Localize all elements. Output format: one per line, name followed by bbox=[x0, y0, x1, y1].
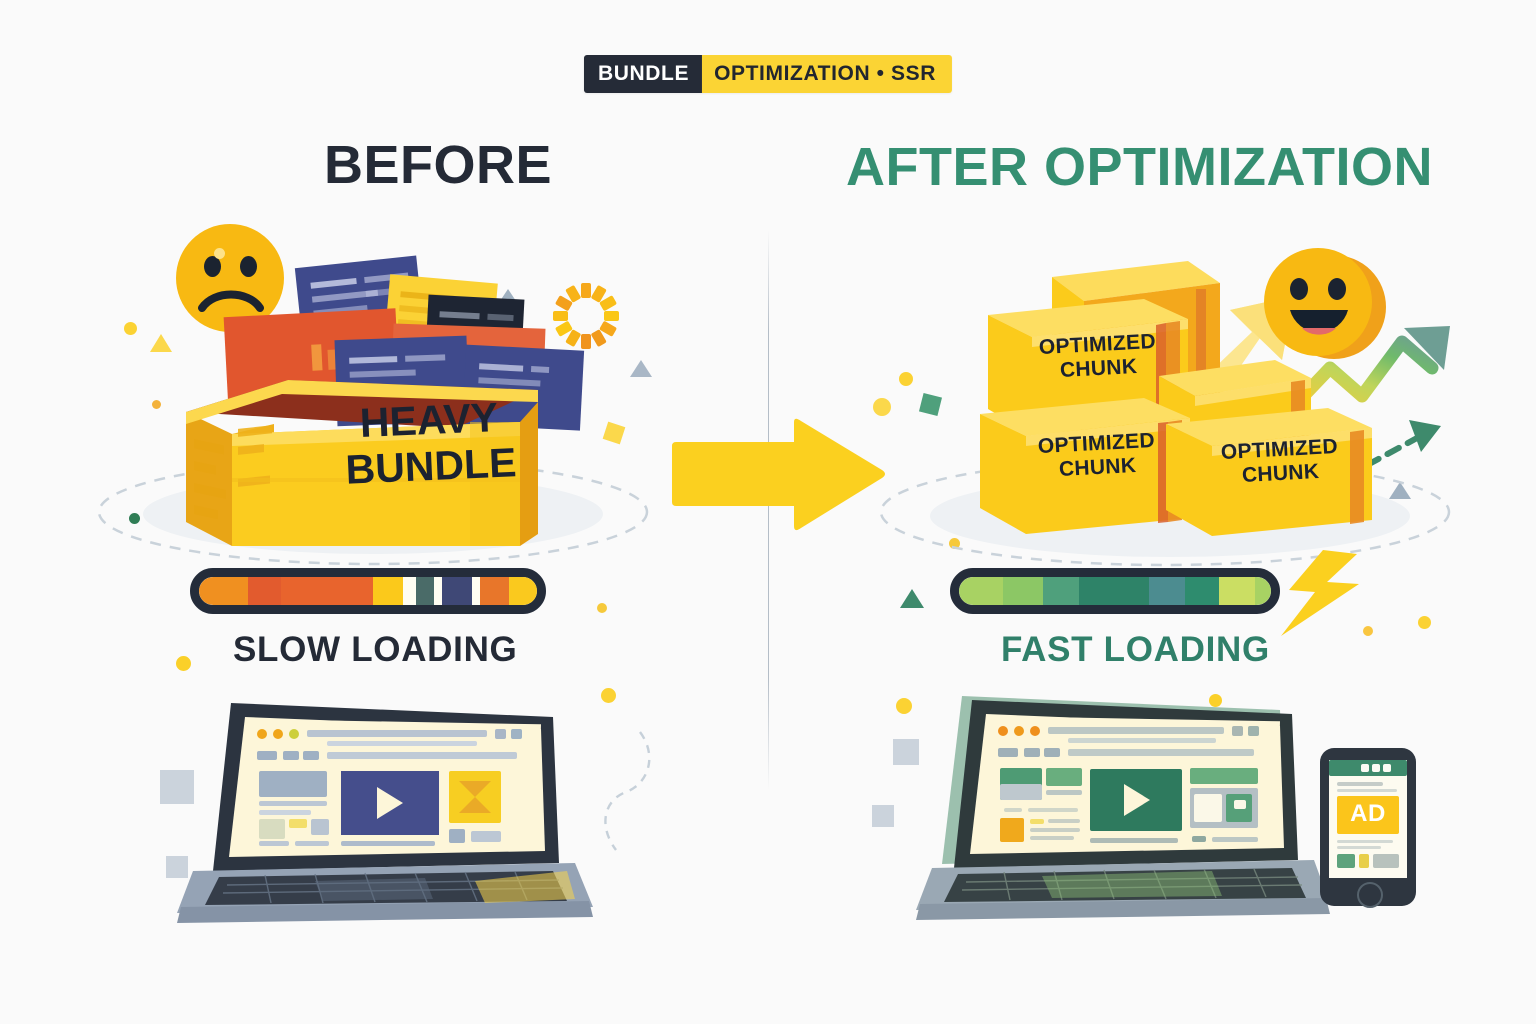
decor-triangle bbox=[150, 334, 172, 352]
phone-screen: AD bbox=[1329, 760, 1407, 878]
phone-header-chip bbox=[1372, 764, 1380, 772]
optimized-chunk-label-1: OPTIMIZED CHUNK bbox=[1027, 329, 1169, 383]
laptop-fast-screen bbox=[986, 716, 1280, 848]
content-thumb bbox=[289, 819, 307, 828]
content-thumb bbox=[449, 829, 465, 843]
phone-header-chip bbox=[1383, 764, 1391, 772]
play-icon[interactable] bbox=[1124, 784, 1150, 816]
content-line bbox=[1046, 790, 1082, 795]
nav-bar bbox=[1068, 749, 1254, 756]
decor-swirl bbox=[596, 726, 662, 866]
optimized-chunk-label-2: OPTIMIZED CHUNK bbox=[1021, 428, 1173, 483]
bar-segment bbox=[480, 577, 509, 605]
content-line bbox=[259, 841, 289, 846]
content-card bbox=[1234, 800, 1246, 809]
content-line bbox=[1212, 837, 1258, 842]
infographic-canvas: BUNDLE OPTIMIZATION • SSR BEFORE AFTER O… bbox=[0, 0, 1536, 1024]
tab-chip bbox=[303, 751, 319, 760]
content-card bbox=[1194, 794, 1222, 822]
browser-dot-yellow bbox=[1014, 726, 1024, 736]
browser-icon bbox=[1232, 726, 1243, 736]
header-badge: BUNDLE OPTIMIZATION • SSR bbox=[584, 55, 952, 93]
decor-dot bbox=[899, 372, 913, 386]
content-thumb bbox=[259, 819, 285, 839]
tab-chip bbox=[1024, 748, 1040, 757]
content-line bbox=[1337, 782, 1383, 786]
content-line bbox=[1028, 808, 1078, 812]
bar-segment bbox=[199, 577, 248, 605]
optimized-chunk-box-3: OPTIMIZED CHUNK bbox=[1160, 398, 1378, 544]
content-thumb bbox=[311, 819, 329, 835]
browser-icon bbox=[511, 729, 522, 739]
content-line bbox=[1048, 819, 1080, 823]
bar-segment bbox=[1115, 577, 1149, 605]
bar-segment bbox=[1149, 577, 1185, 605]
content-line bbox=[471, 831, 501, 842]
decor-dot bbox=[1418, 616, 1431, 629]
lightning-bolt-icon bbox=[1271, 548, 1367, 642]
bar-segment bbox=[1255, 577, 1271, 605]
phone-home-button[interactable] bbox=[1357, 882, 1383, 908]
decor-dot bbox=[152, 400, 161, 409]
heavy-bundle-crate: HEAVY BUNDLE bbox=[170, 350, 560, 550]
bar-segment bbox=[1185, 577, 1219, 605]
content-line bbox=[1337, 789, 1397, 792]
content-line bbox=[1192, 836, 1206, 842]
tab-chip bbox=[998, 748, 1018, 757]
browser-dot-red bbox=[257, 729, 267, 739]
content-line bbox=[259, 810, 311, 815]
decor-triangle bbox=[900, 589, 924, 608]
decor-square bbox=[603, 422, 626, 445]
content-thumb bbox=[1373, 854, 1399, 868]
decor-dot bbox=[597, 603, 607, 613]
happy-face-icon bbox=[1264, 248, 1372, 356]
browser-icon bbox=[1248, 726, 1259, 736]
phone-ad-label: AD bbox=[1337, 802, 1399, 826]
content-line bbox=[1337, 846, 1381, 849]
content-line bbox=[1030, 836, 1074, 840]
browser-dot-yellow bbox=[273, 729, 283, 739]
tab-chip bbox=[257, 751, 277, 760]
content-thumb bbox=[1337, 854, 1355, 868]
loading-spinner-icon bbox=[548, 278, 624, 354]
decor-dot bbox=[124, 322, 137, 335]
fast-loading-bar bbox=[950, 568, 1280, 614]
slow-loading-label: SLOW LOADING bbox=[233, 632, 518, 667]
laptop-slow bbox=[175, 695, 595, 930]
video-caption bbox=[341, 841, 435, 846]
laptop-slow-screen bbox=[245, 719, 541, 851]
bar-segment bbox=[1079, 577, 1115, 605]
url-bar-shadow bbox=[327, 741, 477, 746]
bar-segment bbox=[403, 577, 416, 605]
content-line bbox=[1030, 819, 1044, 824]
url-bar bbox=[307, 730, 487, 737]
tab-chip bbox=[1044, 748, 1060, 757]
optimized-chunk-label-3: OPTIMIZED CHUNK bbox=[1203, 434, 1357, 489]
bar-segment bbox=[959, 577, 1003, 605]
bar-segment bbox=[248, 577, 282, 605]
bar-segment bbox=[442, 577, 472, 605]
bar-segment bbox=[1219, 577, 1255, 605]
bar-segment bbox=[281, 577, 313, 605]
content-line bbox=[1030, 828, 1080, 832]
content-card bbox=[1046, 768, 1082, 786]
bar-segment bbox=[434, 577, 442, 605]
badge-bundle-label: BUNDLE bbox=[584, 55, 702, 93]
tab-chip bbox=[283, 751, 299, 760]
decor-dot bbox=[873, 398, 891, 416]
bar-segment bbox=[341, 577, 373, 605]
nav-bar bbox=[327, 752, 517, 759]
bar-segment bbox=[472, 577, 479, 605]
phone-fast: AD bbox=[1320, 748, 1416, 906]
laptop-fast bbox=[912, 690, 1332, 930]
fast-loading-label: FAST LOADING bbox=[1001, 632, 1270, 667]
play-icon[interactable] bbox=[377, 787, 403, 819]
url-bar bbox=[1048, 727, 1224, 734]
phone-header-chip bbox=[1361, 764, 1369, 772]
crate-label-line2: BUNDLE bbox=[320, 439, 542, 494]
ad-tile-small[interactable] bbox=[1000, 818, 1024, 842]
browser-dot-green bbox=[289, 729, 299, 739]
browser-icon bbox=[495, 729, 506, 739]
content-line bbox=[1337, 840, 1393, 843]
bar-segment bbox=[373, 577, 403, 605]
bar-segment bbox=[1043, 577, 1079, 605]
before-panel-title: BEFORE bbox=[324, 138, 552, 192]
content-line bbox=[1004, 808, 1022, 812]
badge-optimization-label: OPTIMIZATION • SSR bbox=[702, 55, 952, 93]
browser-dot-green bbox=[1030, 726, 1040, 736]
decor-triangle bbox=[630, 360, 652, 377]
transition-arrow-icon bbox=[668, 418, 888, 533]
url-bar-shadow bbox=[1068, 738, 1216, 743]
video-caption bbox=[1090, 838, 1178, 843]
decor-dot bbox=[601, 688, 616, 703]
content-card bbox=[1000, 784, 1042, 800]
decor-dot bbox=[176, 656, 191, 671]
bar-segment bbox=[416, 577, 434, 605]
decor-square bbox=[872, 805, 894, 827]
bar-segment bbox=[313, 577, 341, 605]
bar-segment bbox=[1003, 577, 1043, 605]
content-line bbox=[259, 801, 327, 806]
decor-square bbox=[919, 393, 942, 416]
crate-label: HEAVY BUNDLE bbox=[318, 393, 542, 494]
content-thumb bbox=[1359, 854, 1369, 868]
slow-loading-bar bbox=[190, 568, 546, 614]
after-panel-title: AFTER OPTIMIZATION bbox=[846, 140, 1433, 194]
content-card bbox=[1190, 768, 1258, 784]
decor-dot bbox=[896, 698, 912, 714]
browser-dot-red bbox=[998, 726, 1008, 736]
content-line bbox=[295, 841, 329, 846]
content-card bbox=[259, 771, 327, 797]
bar-segment bbox=[509, 577, 537, 605]
face-highlight bbox=[214, 248, 225, 259]
